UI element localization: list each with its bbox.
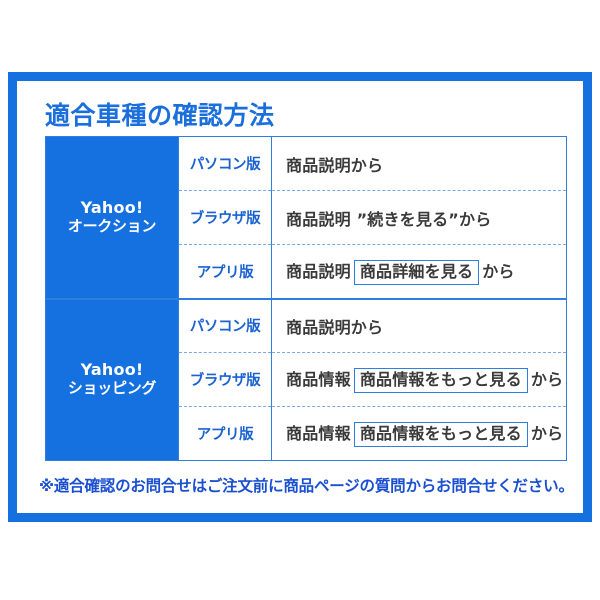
brand-label-line1: Yahoo! [46,361,178,380]
description-cell: 商品説明商品詳細を見るから [272,245,567,299]
platform-label-browser: ブラウザ版 [179,191,272,245]
description-cell: 商品説明から [272,299,567,353]
platform-label-app: アプリ版 [179,245,272,299]
boxed-button-label: 商品詳細を見る [354,260,479,285]
description-cell: 商品情報商品情報をもっと見るから [272,353,567,407]
brand-label-line1: Yahoo! [46,199,178,218]
description-text-before: 商品情報 [286,370,351,389]
platform-label-pc: パソコン版 [179,137,272,191]
description-text-after: から [531,424,563,443]
platform-label-pc: パソコン版 [179,299,272,353]
description-cell: 商品説明から [272,137,567,191]
table-row: Yahoo! ショッピング パソコン版 商品説明から [46,299,567,353]
description-text-after: から [482,262,514,281]
platform-label-browser: ブラウザ版 [179,353,272,407]
verification-method-table: Yahoo! オークション パソコン版 商品説明から ブラウザ版 商品説明 ”続… [45,136,567,461]
brand-label-line2: オークション [46,218,178,236]
brand-cell-shopping: Yahoo! ショッピング [46,299,179,461]
description-text: 商品説明から [286,318,383,337]
boxed-button-label: 商品情報をもっと見る [354,368,528,393]
brand-cell-auction: Yahoo! オークション [46,137,179,299]
brand-label-line2: ショッピング [46,380,178,398]
description-text: 商品説明から [286,156,383,175]
page-title: 適合車種の確認方法 [45,103,561,128]
boxed-button-label: 商品情報をもっと見る [354,422,528,447]
fitment-info-card: 適合車種の確認方法 Yahoo! オークション パソコン版 商品説明から ブラウ… [8,72,592,522]
description-cell: 商品説明 ”続きを見る”から [272,191,567,245]
footer-note: ※適合確認のお問合せはご注文前に商品ページの質問からお問合せください。 [39,474,561,496]
card-inner: 適合車種の確認方法 Yahoo! オークション パソコン版 商品説明から ブラウ… [17,81,583,513]
description-text-after: から [531,370,563,389]
description-text-before: 商品説明 [286,262,351,281]
table-row: Yahoo! オークション パソコン版 商品説明から [46,137,567,191]
platform-label-app: アプリ版 [179,407,272,461]
description-cell: 商品情報商品情報をもっと見るから [272,407,567,461]
description-text: 商品説明 ”続きを見る”から [286,210,491,229]
description-text-before: 商品情報 [286,424,351,443]
